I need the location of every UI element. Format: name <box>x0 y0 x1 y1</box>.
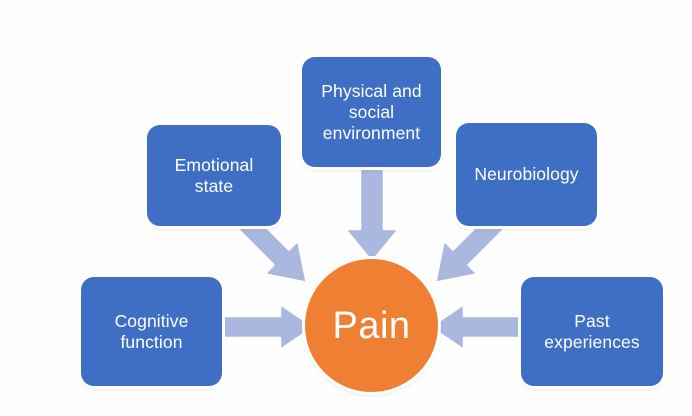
hub-pain-label: Pain <box>332 307 410 345</box>
node-neurobiology[interactable]: Neurobiology <box>456 123 597 226</box>
node-emotional-state-label: Emotional state <box>169 155 260 197</box>
node-cognitive-function[interactable]: Cognitive function <box>81 277 222 386</box>
node-emotional-state[interactable]: Emotional state <box>147 125 281 226</box>
node-cognitive-function-label: Cognitive function <box>109 311 195 353</box>
hub-pain-circle[interactable]: Pain <box>305 259 438 392</box>
arrow-cognitive-function-to-pain <box>216 303 316 351</box>
arrow-physical-social-environment-to-pain <box>339 163 405 265</box>
node-past-experiences[interactable]: Past experiences <box>521 277 663 386</box>
node-physical-social-environment[interactable]: Physical and social environment <box>302 57 441 167</box>
node-physical-social-environment-label: Physical and social environment <box>315 81 427 144</box>
node-neurobiology-label: Neurobiology <box>468 164 584 185</box>
node-past-experiences-label: Past experiences <box>538 311 645 353</box>
arrow-past-experiences-to-pain <box>428 303 528 351</box>
diagram-canvas: Physical and social environment Emotiona… <box>0 0 692 416</box>
